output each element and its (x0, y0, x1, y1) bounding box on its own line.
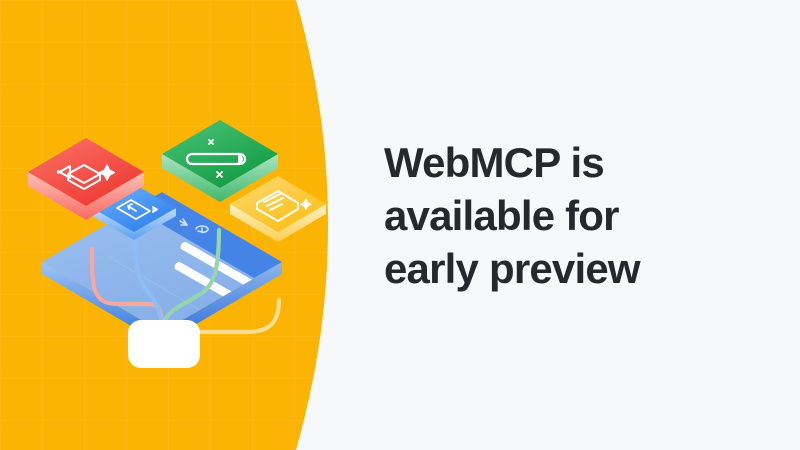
central-agent-node (128, 320, 200, 368)
isometric-illustration (14, 82, 314, 352)
page-title: WebMCP is available for early preview (384, 136, 764, 295)
webmcp-announcement-banner: WebMCP is available for early preview (0, 0, 800, 450)
